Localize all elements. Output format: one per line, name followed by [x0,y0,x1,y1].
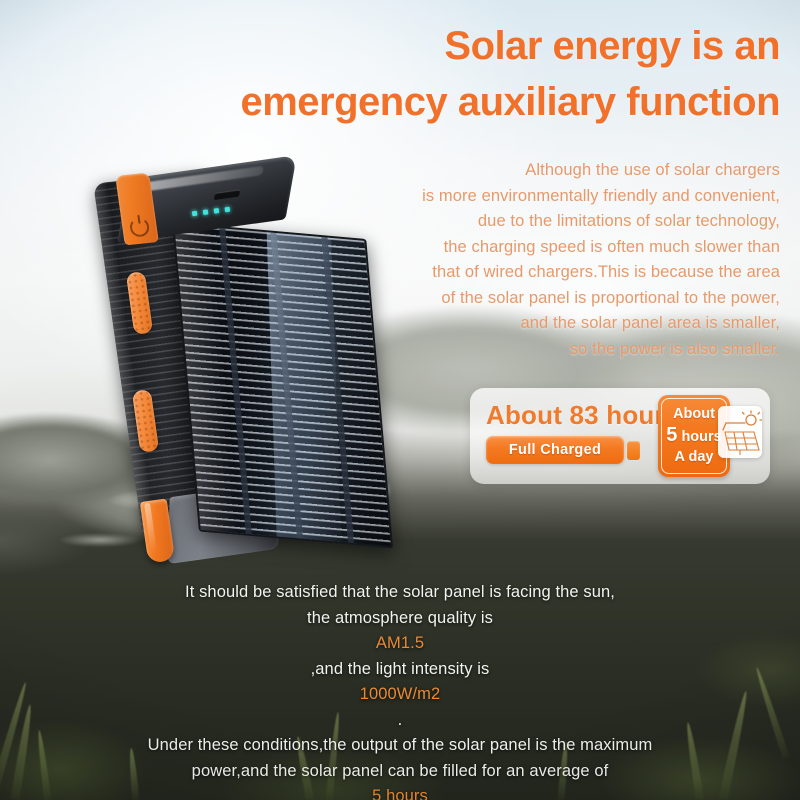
power-icon [129,217,151,238]
led-indicator [225,207,231,213]
headline-line-1: Solar energy is an [444,24,780,68]
outro-line: Under these conditions,the output of the… [30,733,770,759]
outro-text: It should be satisfied that the solar pa… [30,580,770,606]
intro-line: due to the limitations of solar technolo… [300,209,780,235]
top-cap-gloss [144,166,264,192]
outro-text: Under these conditions,the output of the… [30,733,770,759]
intro-line: Although the use of solar chargers [300,158,780,184]
outro-text: ,and the light intensity is [30,657,770,683]
outro-text: . [30,708,770,734]
solar-panel [172,222,393,548]
daily-hours-number: 5 [666,424,677,446]
daily-hours-about: About [673,405,715,424]
outro-line: the atmosphere quality is AM1.5,and the … [30,606,770,734]
total-hours-label: About 83 hours [486,400,679,431]
battery-label: Full Charged [509,442,601,458]
daily-hours-value-row: 5 hours [666,424,721,448]
product-marketing-image: Solar energy is an emergency auxiliary f… [0,0,800,800]
intro-line: that of wired chargers.This is because t… [300,260,780,286]
led-indicator [203,209,209,215]
full-charged-battery-bar: Full Charged [486,436,624,464]
daily-hours-aday: A day [675,448,714,467]
daily-hours-unit: hours [681,429,721,445]
outro-highlight: AM1.5 [30,631,770,657]
outro-line: power,and the solar panel can be filled … [30,759,770,800]
outro-text: the atmosphere quality is [30,606,770,632]
led-indicator [214,208,220,214]
panel-glare [266,222,343,548]
headline-line-2: emergency auxiliary function [40,74,780,130]
page-headline: Solar energy is an emergency auxiliary f… [40,18,780,130]
outro-highlight: 1000W/m2 [30,682,770,708]
solar-panel-icon [718,406,762,458]
battery-terminal-nub [627,441,640,460]
solar-power-bank-product [100,168,370,568]
outro-text: power,and the solar panel can be filled … [30,759,770,785]
outro-line: It should be satisfied that the solar pa… [30,580,770,606]
outro-highlight: 5 hours [30,784,770,800]
outro-paragraph: It should be satisfied that the solar pa… [30,580,770,800]
intro-line: the charging speed is often much slower … [300,235,780,261]
intro-line: is more environmentally friendly and con… [300,184,780,210]
usb-port [214,189,241,200]
led-indicator [192,211,198,217]
charging-time-badge: About 83 hours Full Charged About 5 hour… [470,388,770,484]
